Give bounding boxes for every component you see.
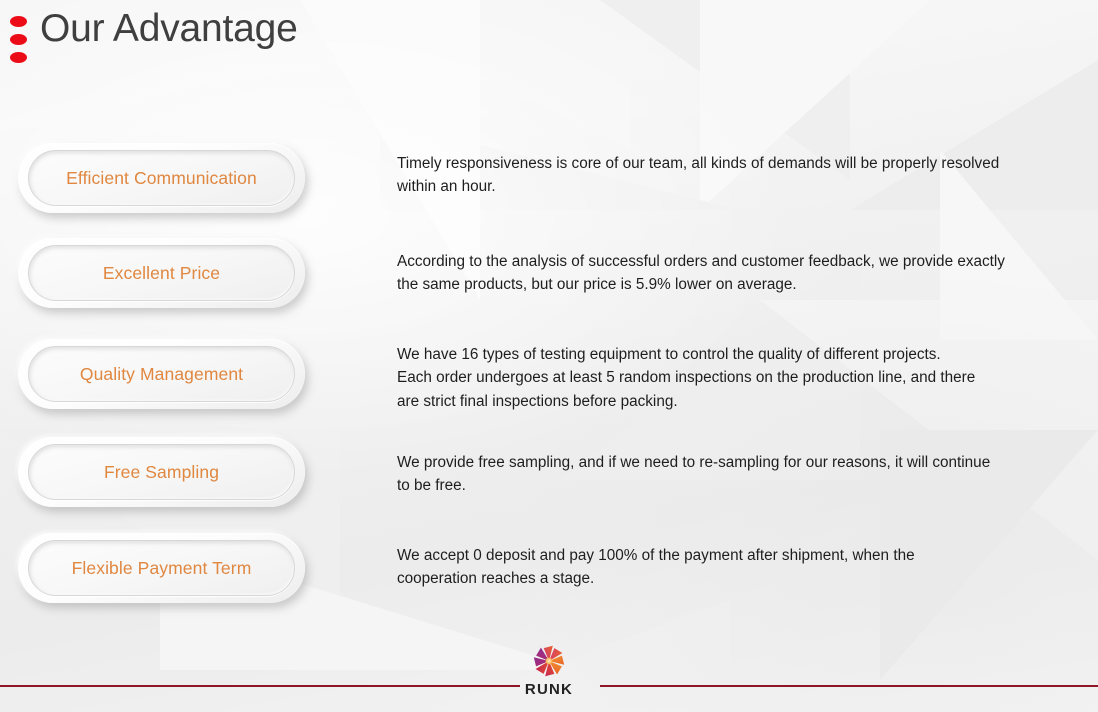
advantage-description: Timely responsiveness is core of our tea… <box>397 152 1075 199</box>
advantage-pill-label: Free Sampling <box>104 462 219 483</box>
advantage-pill-inner[interactable]: Flexible Payment Term <box>28 540 295 596</box>
footer-rule-right <box>600 685 1098 687</box>
advantage-pill[interactable]: Flexible Payment Term <box>18 533 305 603</box>
advantage-description-line: within an hour. <box>397 175 1075 198</box>
advantage-description: We accept 0 deposit and pay 100% of the … <box>397 544 1075 591</box>
red-dot-icon <box>10 52 27 63</box>
slide-footer: RUNK <box>0 640 1098 712</box>
brand-logo: RUNK <box>508 642 590 712</box>
advantage-description-line: the same products, but our price is 5.9%… <box>397 273 1075 296</box>
advantage-pill[interactable]: Efficient Communication <box>18 143 305 213</box>
advantage-description: We have 16 types of testing equipment to… <box>397 343 1075 413</box>
brand-name: RUNK <box>525 681 573 698</box>
advantage-pill[interactable]: Excellent Price <box>18 238 305 308</box>
advantage-description: According to the analysis of successful … <box>397 250 1075 297</box>
red-dot-icon <box>10 16 27 27</box>
advantage-pill-label: Flexible Payment Term <box>72 558 252 579</box>
advantage-pill-inner[interactable]: Excellent Price <box>28 245 295 301</box>
advantage-description-line: We provide free sampling, and if we need… <box>397 451 1075 474</box>
advantage-pill-inner[interactable]: Quality Management <box>28 346 295 402</box>
red-dot-icon <box>10 34 27 45</box>
advantage-description-line: to be free. <box>397 474 1075 497</box>
advantage-pill-label: Excellent Price <box>103 263 220 284</box>
advantage-description-line: We have 16 types of testing equipment to… <box>397 343 1075 366</box>
page-title: Our Advantage <box>40 7 298 51</box>
advantage-description-line: Timely responsiveness is core of our tea… <box>397 152 1075 175</box>
advantage-pill[interactable]: Free Sampling <box>18 437 305 507</box>
advantage-pill[interactable]: Quality Management <box>18 339 305 409</box>
advantage-description-line: Each order undergoes at least 5 random i… <box>397 366 1075 389</box>
advantage-pill-inner[interactable]: Free Sampling <box>28 444 295 500</box>
advantage-description: We provide free sampling, and if we need… <box>397 451 1075 498</box>
advantage-pill-inner[interactable]: Efficient Communication <box>28 150 295 206</box>
advantage-description-line: cooperation reaches a stage. <box>397 567 1075 590</box>
footer-rule-left <box>0 685 520 687</box>
slide-canvas: Our Advantage Efficient CommunicationTim… <box>0 0 1098 712</box>
advantage-description-line: According to the analysis of successful … <box>397 250 1075 273</box>
advantage-pill-label: Efficient Communication <box>66 168 257 189</box>
pinwheel-flower-logo-icon <box>529 642 569 680</box>
advantage-pill-label: Quality Management <box>80 364 243 385</box>
advantage-description-line: We accept 0 deposit and pay 100% of the … <box>397 544 1075 567</box>
advantage-description-line: are strict final inspections before pack… <box>397 390 1075 413</box>
title-bullet-dots <box>10 16 27 63</box>
